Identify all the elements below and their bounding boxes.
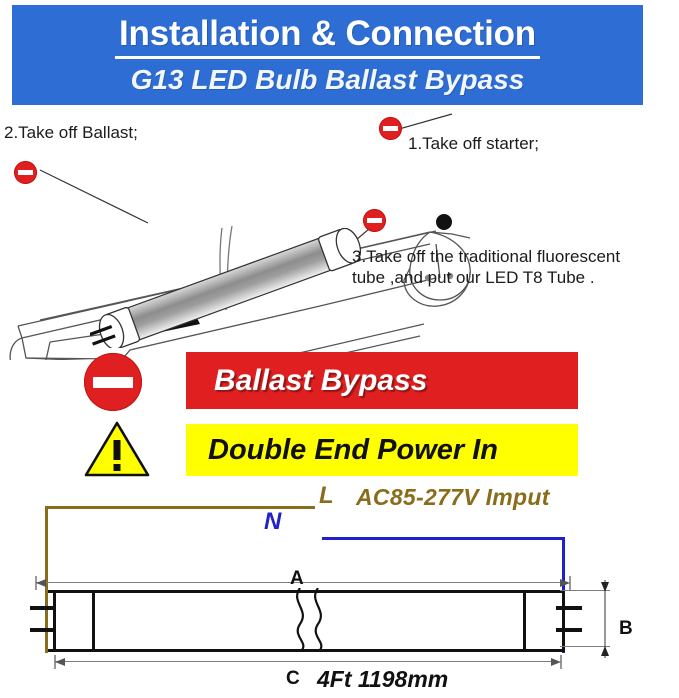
dimension-c-label: C bbox=[286, 668, 300, 690]
line-label: L bbox=[319, 482, 334, 510]
page-title: Installation & Connection bbox=[115, 14, 540, 59]
tube-end-cap-left bbox=[53, 590, 95, 652]
neutral-label: N bbox=[264, 508, 281, 536]
no-entry-icon bbox=[363, 209, 386, 232]
tube-pin-left-bottom bbox=[30, 628, 56, 632]
dimension-b-label: B bbox=[619, 618, 633, 640]
tube-length-label: 4Ft 1198mm bbox=[317, 666, 448, 693]
tube-break-symbol bbox=[288, 588, 334, 650]
tube-end-cap-right bbox=[523, 590, 565, 652]
dimension-b-arrows bbox=[597, 580, 613, 658]
no-entry-icon bbox=[84, 353, 142, 411]
step-2-label: 2.Take off Ballast; bbox=[4, 122, 138, 143]
ac-input-label: AC85-277V Imput bbox=[356, 484, 550, 511]
step-1-label: 1.Take off starter; bbox=[408, 133, 539, 154]
no-entry-icon bbox=[379, 117, 402, 140]
page-subtitle: G13 LED Bulb Ballast Bypass bbox=[131, 63, 525, 97]
tube-pin-right-top bbox=[556, 606, 582, 610]
no-entry-icon bbox=[14, 161, 37, 184]
warning-triangle-icon bbox=[84, 420, 150, 478]
header-banner: Installation & Connection G13 LED Bulb B… bbox=[12, 5, 643, 105]
tube-pin-right-bottom bbox=[556, 628, 582, 632]
led-tube-illustration bbox=[90, 228, 380, 348]
ballast-bypass-label: Ballast Bypass bbox=[214, 364, 427, 398]
neutral-wire-horizontal bbox=[322, 537, 565, 540]
double-end-power-banner: Double End Power In bbox=[186, 424, 578, 476]
tube-pin-left-top bbox=[30, 606, 56, 610]
step-3-label: 3.Take off the traditional fluorescent t… bbox=[352, 246, 670, 288]
ballast-bypass-banner: Ballast Bypass bbox=[186, 352, 578, 409]
double-end-power-label: Double End Power In bbox=[208, 434, 498, 467]
dimension-c-arrows bbox=[48, 655, 568, 669]
dimension-a-label: A bbox=[290, 568, 304, 590]
